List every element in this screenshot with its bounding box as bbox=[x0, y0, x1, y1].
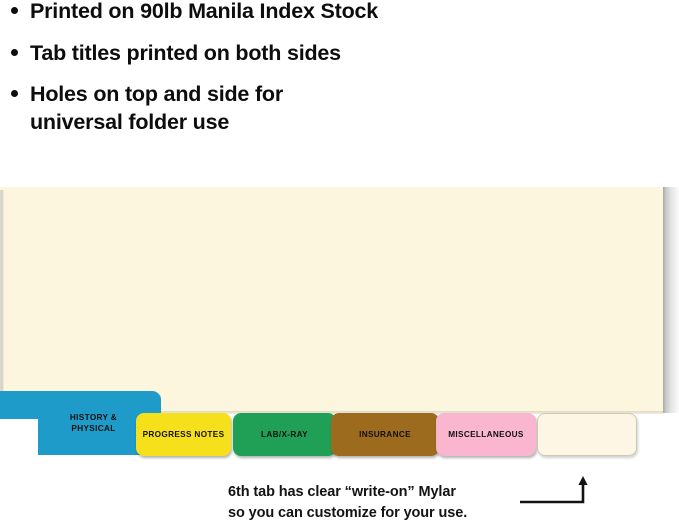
list-item: Printed on 90lb Manila Index Stock bbox=[0, 0, 679, 26]
tab-blank-mylar[interactable] bbox=[537, 413, 637, 456]
feature-text: Holes on top and side for universal fold… bbox=[30, 81, 283, 136]
tab-label: PROGRESS NOTES bbox=[143, 429, 225, 440]
caption-line-1: 6th tab has clear “write-on” Mylar bbox=[228, 482, 528, 503]
sheet-left-edge bbox=[0, 190, 4, 413]
caption-line-2: so you can customize for your use. bbox=[228, 503, 528, 524]
feature-text: Printed on 90lb Manila Index Stock bbox=[30, 0, 378, 26]
bullet-dot-icon bbox=[11, 90, 18, 97]
tab-miscellaneous[interactable]: MISCELLANEOUS bbox=[436, 413, 536, 456]
tab-progress-notes[interactable]: PROGRESS NOTES bbox=[136, 413, 231, 456]
index-tab-strip: HISTORY & PHYSICAL PROGRESS NOTES LAB/X-… bbox=[0, 391, 679, 461]
bullet-dot-icon bbox=[11, 49, 18, 56]
feature-text: Tab titles printed on both sides bbox=[30, 40, 341, 68]
manila-divider-sheet bbox=[0, 187, 663, 413]
list-item: Tab titles printed on both sides bbox=[0, 40, 679, 68]
tab-insurance[interactable]: INSURANCE bbox=[331, 413, 439, 456]
bullet-dot-icon bbox=[11, 7, 18, 14]
tab-label: LAB/X-RAY bbox=[261, 429, 308, 440]
sheet-right-edge-shadow bbox=[663, 187, 679, 413]
tab-label: MISCELLANEOUS bbox=[448, 429, 524, 440]
feature-bullet-list: Printed on 90lb Manila Index Stock Tab t… bbox=[0, 0, 679, 150]
tab-label: HISTORY & PHYSICAL bbox=[70, 412, 117, 434]
tab-lab-xray[interactable]: LAB/X-RAY bbox=[233, 413, 336, 456]
callout-arrow-up-right-icon bbox=[515, 471, 595, 511]
tab-label: INSURANCE bbox=[359, 429, 411, 440]
list-item: Holes on top and side for universal fold… bbox=[0, 81, 679, 136]
mylar-caption: 6th tab has clear “write-on” Mylar so yo… bbox=[228, 482, 528, 524]
